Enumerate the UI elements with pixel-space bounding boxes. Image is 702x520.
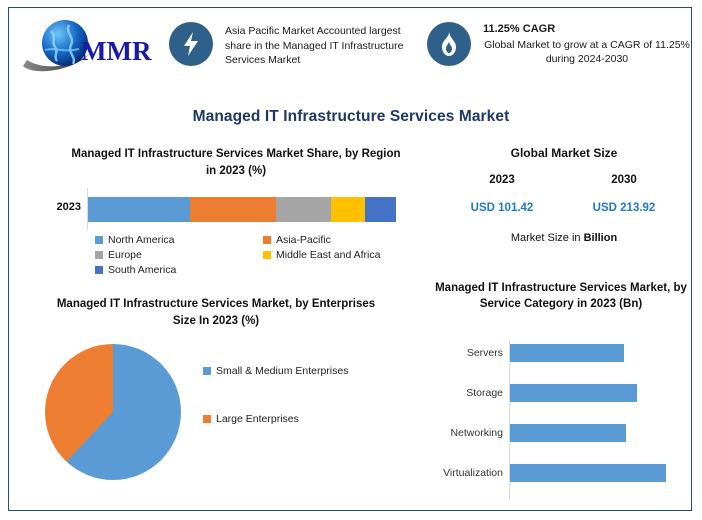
chart-region-share-legend: North AmericaAsia-PacificEuropeMiddle Ea… <box>95 234 431 279</box>
chart-service-category-title: Managed IT Infrastructure Services Marke… <box>433 280 689 312</box>
globe-swoosh-icon: MMR <box>21 16 161 78</box>
service-category-bar <box>510 464 666 482</box>
service-category-label: Servers <box>433 347 503 359</box>
legend-label: Large Enterprises <box>216 412 299 426</box>
service-category-row: Storage <box>433 384 689 404</box>
legend-label: Small & Medium Enterprises <box>216 364 348 378</box>
service-category-label: Storage <box>433 387 503 399</box>
lightning-bolt-icon <box>169 22 213 66</box>
page-title: Managed IT Infrastructure Services Marke… <box>9 108 693 126</box>
chart-service-category-plot: ServersStorageNetworkingVirtualization <box>433 340 689 505</box>
region-segment-3 <box>331 197 365 222</box>
legend-label: Asia-Pacific <box>276 234 331 246</box>
logo-text: MMR <box>81 36 152 66</box>
chart-enterprise-size-title: Managed IT Infrastructure Services Marke… <box>51 296 381 330</box>
flame-icon <box>427 22 471 66</box>
cagr-headline: 11.25% CAGR <box>483 22 691 37</box>
market-size-value-2023: USD 101.42 <box>457 202 547 214</box>
chart-service-category: Managed IT Infrastructure Services Marke… <box>433 280 689 514</box>
legend-label: Europe <box>108 249 142 261</box>
service-category-label: Networking <box>433 427 503 439</box>
legend-swatch-icon <box>95 251 103 259</box>
legend-item: Small & Medium Enterprises <box>203 364 393 378</box>
legend-row: South America <box>95 264 431 276</box>
service-category-row: Virtualization <box>433 464 689 484</box>
service-category-bar <box>510 344 624 362</box>
chart-region-share-category-label: 2023 <box>39 201 81 213</box>
header-badge-cagr-text: 11.25% CAGR Global Market to grow at a C… <box>483 22 691 67</box>
service-category-row: Networking <box>433 424 689 444</box>
service-category-bar <box>510 384 637 402</box>
chart-region-share: Managed IT Infrastructure Services Marke… <box>21 146 431 278</box>
legend-swatch-icon <box>263 236 271 244</box>
legend-item: North America <box>95 234 263 246</box>
market-size-year-2030: 2030 <box>579 174 669 186</box>
legend-swatch-icon <box>95 266 103 274</box>
legend-item: Europe <box>95 249 263 261</box>
chart-region-share-bar <box>88 197 396 222</box>
legend-swatch-icon <box>263 251 271 259</box>
region-segment-1 <box>190 197 276 222</box>
chart-enterprise-size-legend: Small & Medium EnterprisesLarge Enterpri… <box>203 364 393 460</box>
region-segment-4 <box>365 197 396 222</box>
legend-item: Asia-Pacific <box>263 234 431 246</box>
service-category-row: Servers <box>433 344 689 364</box>
market-size-unit: Market Size in Billion <box>439 232 689 244</box>
legend-row: North AmericaAsia-Pacific <box>95 234 431 246</box>
legend-item: Middle East and Africa <box>263 249 431 261</box>
legend-item: South America <box>95 264 263 276</box>
mmr-logo: MMR <box>21 16 161 78</box>
market-size-year-2023: 2023 <box>457 174 547 186</box>
legend-swatch-icon <box>203 367 211 375</box>
chart-enterprise-size-pie <box>45 344 181 480</box>
chart-enterprise-size: Managed IT Infrastructure Services Marke… <box>21 296 431 514</box>
global-market-size-title: Global Market Size <box>439 146 689 160</box>
legend-swatch-icon <box>95 236 103 244</box>
service-category-bar <box>510 424 626 442</box>
service-category-label: Virtualization <box>433 467 503 479</box>
legend-label: North America <box>108 234 175 246</box>
header: MMR Asia Pacific Market Accounted larges… <box>9 8 693 94</box>
region-segment-2 <box>276 197 331 222</box>
page-frame: MMR Asia Pacific Market Accounted larges… <box>8 7 692 511</box>
header-badge-asia-pacific-text: Asia Pacific Market Accounted largest sh… <box>225 24 417 68</box>
legend-row: EuropeMiddle East and Africa <box>95 249 431 261</box>
cagr-description: Global Market to grow at a CAGR of 11.25… <box>484 39 690 66</box>
legend-swatch-icon <box>203 415 211 423</box>
legend-label: South America <box>108 264 176 276</box>
global-market-size: Global Market Size 2023 2030 USD 101.42 … <box>439 146 689 271</box>
legend-item: Large Enterprises <box>203 412 393 426</box>
infographic-page: MMR Asia Pacific Market Accounted larges… <box>0 0 702 520</box>
market-size-value-2030: USD 213.92 <box>579 202 669 214</box>
chart-region-share-title: Managed IT Infrastructure Services Marke… <box>71 146 401 180</box>
legend-label: Middle East and Africa <box>276 249 380 261</box>
region-segment-0 <box>88 197 190 222</box>
